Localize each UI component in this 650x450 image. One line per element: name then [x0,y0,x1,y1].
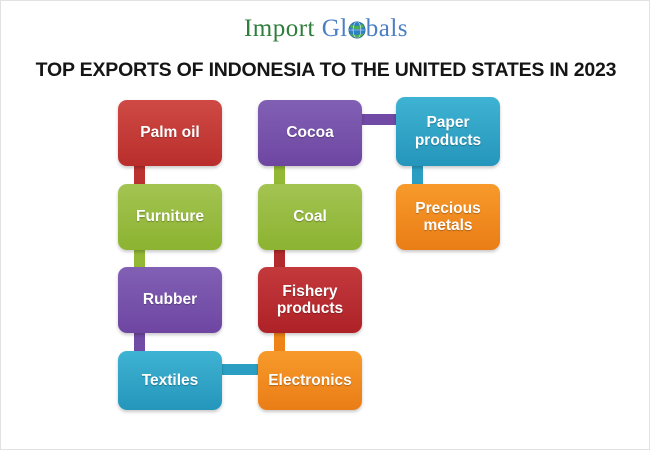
node-label: Palm oil [140,124,199,141]
node-label: Cocoa [286,124,333,141]
node-textiles[interactable]: Textiles [118,351,222,410]
node-furniture[interactable]: Furniture [118,184,222,250]
node-precious-metals[interactable]: Precious metals [396,184,500,250]
node-rubber[interactable]: Rubber [118,267,222,333]
node-coal[interactable]: Coal [258,184,362,250]
export-flow-diagram: Palm oil Furniture Rubber Textiles Cocoa… [1,1,650,450]
node-label: Paper products [402,114,494,149]
node-label: Rubber [143,291,197,308]
node-label: Electronics [268,372,352,389]
infographic-canvas: Import Glbals TOP EXPORTS OF INDONESIA T… [0,0,650,450]
node-label: Precious metals [402,200,494,235]
node-palm-oil[interactable]: Palm oil [118,100,222,166]
node-cocoa[interactable]: Cocoa [258,100,362,166]
node-electronics[interactable]: Electronics [258,351,362,410]
node-label: Furniture [136,208,204,225]
node-label: Textiles [142,372,199,389]
node-label: Fishery products [264,283,356,318]
node-paper-products[interactable]: Paper products [396,97,500,166]
node-label: Coal [293,208,327,225]
node-fishery-products[interactable]: Fishery products [258,267,362,333]
